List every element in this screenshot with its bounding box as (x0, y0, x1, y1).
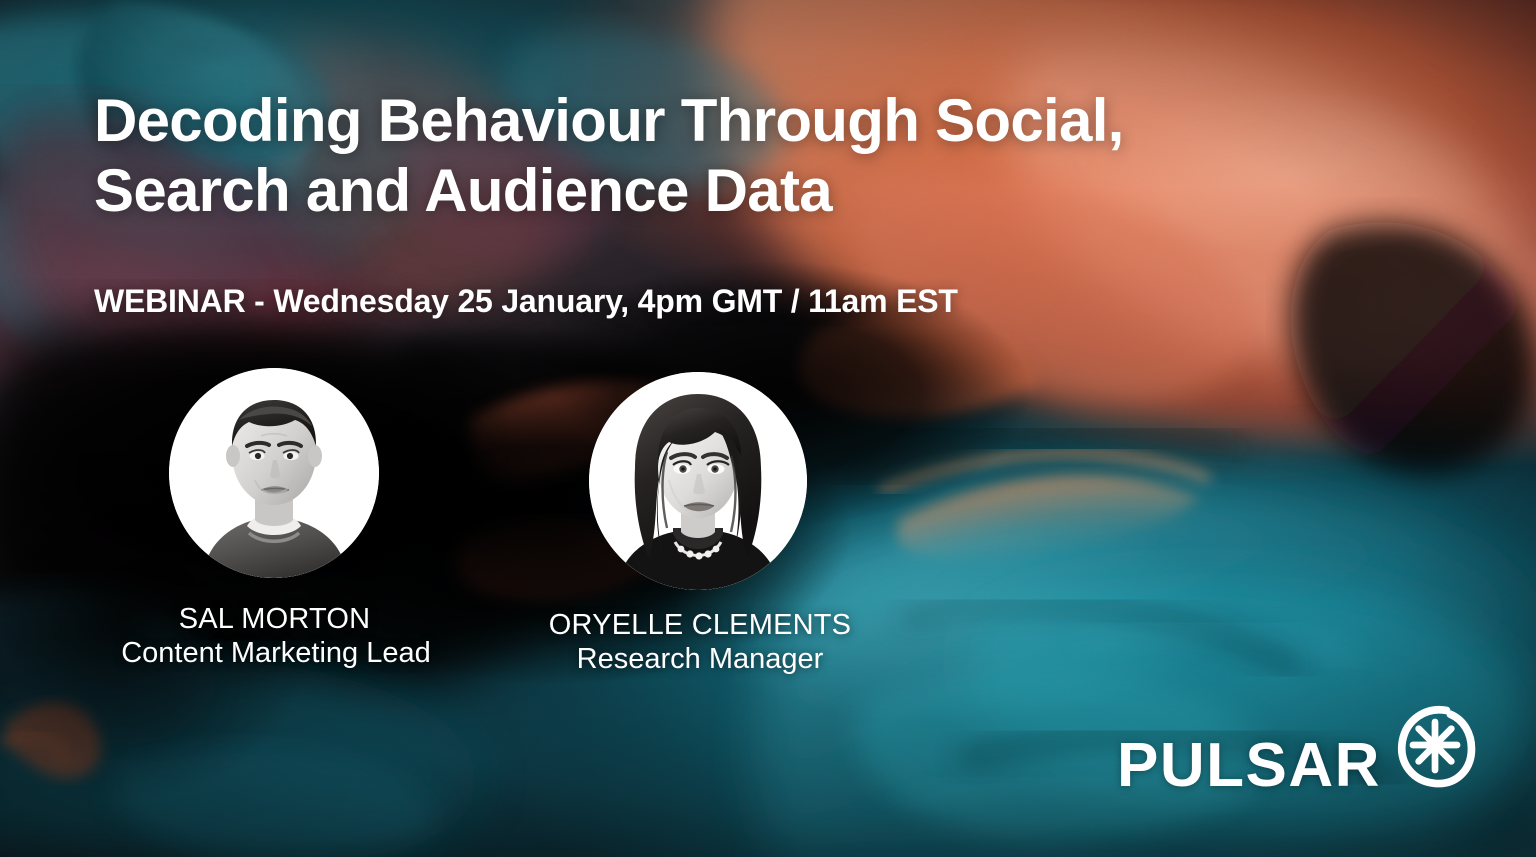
webinar-promo-banner: Decoding Behaviour Through Social, Searc… (0, 0, 1536, 857)
pulsar-logo: PULSAR (1117, 735, 1483, 797)
event-details: WEBINAR - Wednesday 25 January, 4pm GMT … (94, 283, 958, 320)
headline-line-1: Decoding Behaviour Through Social, (94, 86, 1434, 156)
page-title: Decoding Behaviour Through Social, Searc… (94, 86, 1434, 225)
speaker-card-sal-morton: SAL MORTON Content Marketing Lead (62, 368, 487, 671)
speaker-card-oryelle-clements: ORYELLE CLEMENTS Research Manager (500, 372, 900, 677)
pulsar-wordmark: PULSAR (1117, 735, 1381, 797)
headline-line-2: Search and Audience Data (94, 156, 1434, 226)
avatar-sal-morton (169, 368, 379, 578)
pulsar-asterisk-ring-icon (1387, 697, 1483, 793)
speaker-role: Content Marketing Lead (106, 636, 446, 671)
speaker-role: Research Manager (500, 642, 900, 677)
speaker-name: SAL MORTON (62, 602, 487, 636)
avatar-oryelle-clements (589, 372, 807, 590)
speaker-name: ORYELLE CLEMENTS (500, 608, 900, 642)
